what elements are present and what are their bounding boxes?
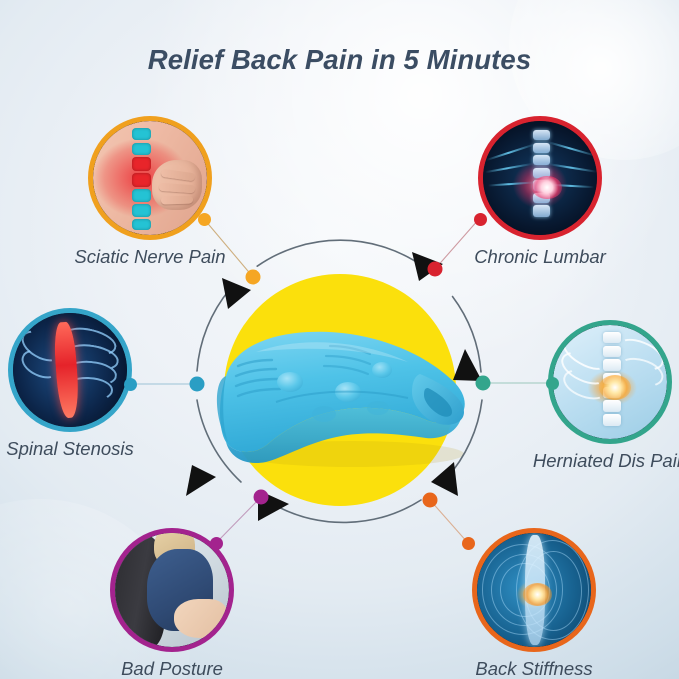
ring-marker-lumbar — [428, 262, 443, 277]
ring-marker-herniated — [476, 376, 491, 391]
flow-ring-layer — [0, 0, 679, 679]
flow-arrowheads — [186, 252, 482, 521]
flow-arc-left — [197, 289, 230, 371]
ring-marker-sciatic — [246, 270, 261, 285]
ring-marker-stiffness — [423, 493, 438, 508]
node-dot-back-stiffness — [462, 537, 475, 550]
flow-arc-bottom — [271, 500, 421, 522]
node-dot-herniated — [546, 377, 559, 390]
arrow-bottom-right — [431, 462, 458, 496]
flow-arc-left-lower — [197, 400, 241, 482]
node-dot-chronic-lumbar — [474, 213, 487, 226]
infographic-canvas: Relief Back Pain in 5 Minutes — [0, 0, 679, 679]
arrow-left-lower — [186, 465, 216, 496]
node-dot-spinal-stenosis — [124, 378, 137, 391]
arrow-left-upper — [222, 278, 251, 309]
ring-marker-posture — [254, 490, 269, 505]
node-dot-bad-posture — [210, 537, 223, 550]
flow-arc-top-right — [257, 240, 424, 267]
node-dot-sciatic — [198, 213, 211, 226]
ring-marker-stenosis — [190, 377, 205, 392]
